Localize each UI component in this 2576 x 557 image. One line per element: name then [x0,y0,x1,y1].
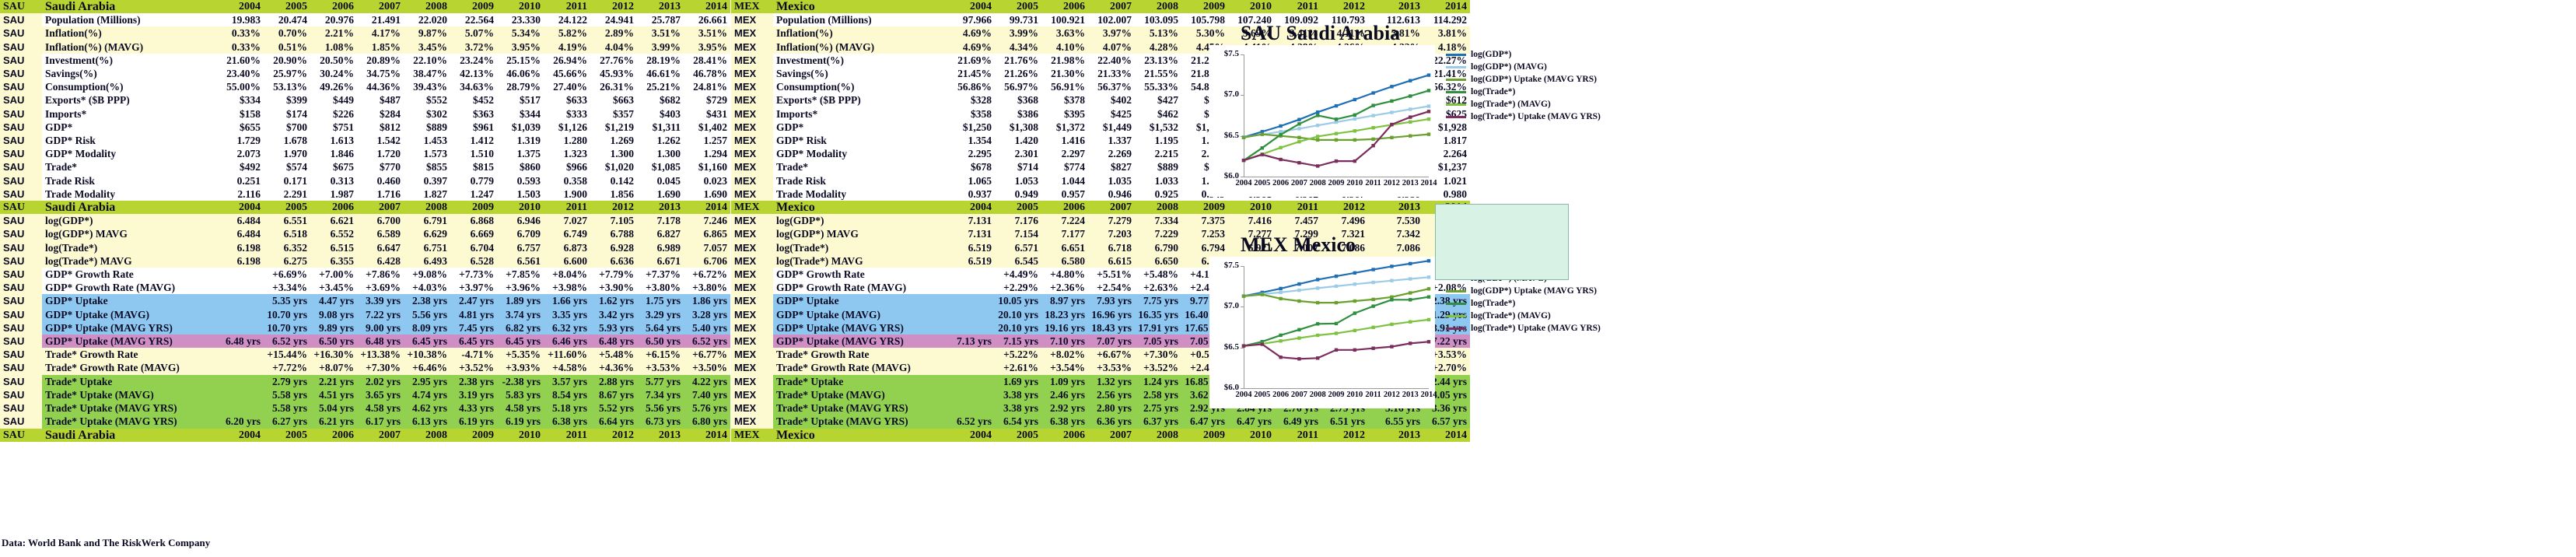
series-marker [1353,114,1356,117]
data-cell: +5.35% [497,348,544,361]
data-cell: 7.177 [1041,227,1088,240]
chart-sau: SAU Saudi Arabia$6.0$6.5$7.0$7.520042005… [1209,22,1435,197]
data-cell: 6.38 yrs [544,415,590,428]
series-marker [1316,322,1319,325]
data-cell: +3.45% [310,281,357,294]
row-label: log(Trade*) [773,241,948,254]
legend-swatch-icon [1446,303,1466,305]
data-cell: 6.48 yrs [590,335,637,348]
data-cell: 1.257 [684,134,730,147]
data-cell: +11.60% [544,348,590,361]
country-code: MEX [731,401,773,415]
series-marker [1316,135,1319,138]
data-cell: +8.04% [544,268,590,281]
series-marker [1371,326,1374,329]
data-cell: 6.700 [357,214,404,227]
row-label: Trade Modality [773,187,948,201]
data-cell: +3.93% [497,361,544,374]
data-cell: $889 [1135,160,1181,173]
data-cell: 18.43 yrs [1088,321,1135,335]
table-row: SAUTrade* Uptake (MAVG YRS)5.58 yrs5.04 … [0,401,730,415]
data-cell: 3.51% [637,26,684,40]
table-row: SAUlog(GDP*)6.4846.5516.6216.7006.7916.8… [0,214,730,227]
data-cell: 5.35 yrs [264,294,310,307]
legend-item: log(GDP*) Uptake (MAVG YRS) [1446,285,1601,297]
data-cell: 0.142 [590,174,637,187]
data-cell: +4.58% [544,361,590,374]
data-cell: 6.80 yrs [684,415,730,428]
row-label: GDP* [42,121,217,134]
data-cell: +3.52% [450,361,497,374]
data-cell: 1.542 [357,134,404,147]
country-name: Saudi Arabia [42,0,217,13]
series-marker [1335,331,1338,335]
row-label: GDP* Uptake (MAVG YRS) [773,335,948,348]
data-cell [948,268,995,281]
year-header: 2007 [357,429,404,442]
row-label: Imports* [773,107,948,121]
row-label: Investment(%) [42,54,217,67]
data-cell: +13.38% [357,348,404,361]
data-cell: 25.97% [264,67,310,80]
data-cell: $284 [357,107,404,121]
data-cell: 2.92 yrs [1041,401,1088,415]
row-label: Investment(%) [773,54,948,67]
data-cell: $1,039 [497,121,544,134]
data-cell: 6.989 [637,241,684,254]
data-cell: 1.89 yrs [497,294,544,307]
data-cell: $302 [404,107,450,121]
data-cell: $774 [1041,160,1088,173]
data-cell: $1,402 [684,121,730,134]
data-cell: 6.52 yrs [684,335,730,348]
row-label: log(GDP*) [42,214,217,227]
series-marker [1371,347,1374,350]
row-label: Trade* Uptake [773,375,948,388]
series-marker [1353,271,1356,275]
data-cell: 1.69 yrs [995,375,1041,388]
series-marker [1316,278,1319,281]
table-row: SAUPopulation (Millions)19.98320.47420.9… [0,13,730,26]
country-code: MEX [731,281,773,294]
data-cell: 1.86 yrs [684,294,730,307]
country-code: SAU [0,294,42,307]
series-marker [1279,339,1282,342]
data-cell: 0.779 [450,174,497,187]
data-cell: $855 [404,160,450,173]
country-name: Mexico [773,429,948,442]
data-cell: 21.55% [1135,67,1181,80]
data-cell: $1,308 [995,121,1041,134]
series-marker [1371,126,1374,129]
country-code: MEX [731,241,773,254]
data-cell: $714 [995,160,1041,173]
data-cell: 5.13% [1135,26,1181,40]
row-label: Trade* Uptake (MAVG) [42,388,217,401]
series-marker [1297,300,1300,303]
series-marker [1371,298,1374,301]
data-cell [217,388,264,401]
data-cell [217,375,264,388]
data-cell: 55.00% [217,80,264,93]
series-marker [1390,298,1393,301]
year-header: 2014 [684,201,730,214]
data-cell [948,294,995,307]
country-code: MEX [731,429,773,442]
data-cell: 6.19 yrs [450,415,497,428]
data-cell: 6.45 yrs [404,335,450,348]
year-header: 2014 [684,429,730,442]
data-cell: 25.15% [497,54,544,67]
data-cell [217,321,264,335]
year-header: 2011 [544,0,590,13]
data-cell: 20.10 yrs [995,308,1041,321]
data-cell: 4.19% [544,40,590,54]
country-code: MEX [731,174,773,187]
data-cell: $1,219 [590,121,637,134]
table-row: SAUlog(Trade*) MAVG6.1986.2756.3556.4286… [0,254,730,268]
data-cell: -2.38 yrs [497,375,544,388]
data-cell: 1.065 [948,174,995,187]
data-cell: 1.678 [264,134,310,147]
series-marker [1297,118,1300,121]
data-cell: 3.97% [1088,26,1135,40]
row-label: Consumption(%) [42,80,217,93]
data-cell: 6.757 [497,241,544,254]
country-code: SAU [0,40,42,54]
country-code: SAU [0,134,42,147]
data-cell: 6.545 [995,254,1041,268]
data-cell: 0.51% [264,40,310,54]
country-code: MEX [731,80,773,93]
data-cell: 1.970 [264,147,310,160]
series-marker [1427,259,1430,262]
data-cell: 6.198 [217,254,264,268]
data-cell: 6.561 [497,254,544,268]
series-marker [1261,146,1264,149]
row-label: Inflation(%) (MAVG) [773,40,948,54]
year-header: 2005 [995,429,1041,442]
data-cell: 28.41% [684,54,730,67]
data-cell: +6.15% [637,348,684,361]
data-cell: 21.491 [357,13,404,26]
data-cell: 1.294 [684,147,730,160]
country-code: SAU [0,214,42,227]
row-label: Trade* Uptake (MAVG YRS) [42,415,217,428]
row-label: GDP* Growth Rate (MAVG) [773,281,948,294]
data-cell: 21.33% [1088,67,1135,80]
series-marker [1427,104,1430,107]
year-header: 2007 [357,0,404,13]
data-cell: 22.020 [404,13,450,26]
data-cell: +3.53% [637,361,684,374]
legend-swatch-icon [1446,290,1466,293]
year-header: 2013 [637,201,684,214]
data-cell: 7.279 [1088,214,1135,227]
data-cell: 7.027 [544,214,590,227]
country-code: SAU [0,415,42,428]
data-cell: 3.65 yrs [357,388,404,401]
data-cell: +3.97% [450,281,497,294]
charts-panel: SAU Saudi Arabia$6.0$6.5$7.0$7.520042005… [1209,0,2011,537]
country-name: Saudi Arabia [42,429,217,442]
data-cell: 23.330 [497,13,544,26]
saudi-arabia-table: SAUSaudi Arabia2004200520062007200820092… [0,0,730,442]
year-header: 2004 [217,429,264,442]
series-marker [1353,282,1356,286]
legend-swatch-icon [1446,103,1466,106]
data-cell: 6.46 yrs [544,335,590,348]
data-cell: +8.02% [1041,348,1088,361]
data-cell: 5.52 yrs [590,401,637,415]
data-cell: 1.690 [684,187,730,201]
year-header: 2004 [948,201,995,214]
series-marker [1390,136,1393,139]
data-cell: 1.044 [1041,174,1088,187]
series-marker [1316,124,1319,127]
legend-label: log(GDP*) [1471,50,1511,59]
data-cell: 0.358 [544,174,590,187]
data-cell: $770 [357,160,404,173]
series-marker [1316,110,1319,114]
data-cell: 5.56 yrs [404,308,450,321]
row-label: log(GDP*) MAVG [42,227,217,240]
data-cell: $815 [450,160,497,173]
data-cell: 4.69% [948,26,995,40]
data-cell: 6.54 yrs [995,415,1041,428]
series-marker [1279,158,1282,161]
data-cell: 1.613 [310,134,357,147]
series-marker [1242,136,1245,139]
row-label: Trade Risk [773,174,948,187]
data-cell: 1.323 [544,147,590,160]
series-marker [1279,291,1282,294]
data-cell: 6.621 [310,214,357,227]
data-cell: 7.224 [1041,214,1088,227]
data-cell: 56.97% [995,80,1041,93]
series-marker [1390,264,1393,268]
year-header: 2005 [264,0,310,13]
data-cell: 2.79 yrs [264,375,310,388]
data-cell: +7.30% [357,361,404,374]
data-cell: $1,126 [544,121,590,134]
data-cell: 25.787 [637,13,684,26]
table-row: SAUGDP* Growth Rate (MAVG)+3.34%+3.45%+3… [0,281,730,294]
data-cell: 0.313 [310,174,357,187]
year-header: 2014 [684,0,730,13]
data-cell: 6.749 [544,227,590,240]
year-header: 2007 [1088,429,1135,442]
data-cell: 6.352 [264,241,310,254]
data-cell: 1.503 [497,187,544,201]
series-marker [1335,349,1338,352]
data-cell: 46.06% [497,67,544,80]
row-label: GDP* Uptake (MAVG YRS) [42,335,217,348]
data-cell: $751 [310,121,357,134]
data-cell: 20.89% [357,54,404,67]
data-cell: 1.354 [948,134,995,147]
table-row: SAUGDP* Modality2.0731.9701.8461.7201.57… [0,147,730,160]
table-row: SAUInflation(%) (MAVG)0.33%0.51%1.08%1.8… [0,40,730,54]
legend-item: log(Trade*) [1446,297,1601,310]
data-cell: 6.17 yrs [357,415,404,428]
data-cell: $462 [1135,107,1181,121]
country-code: MEX [731,227,773,240]
legend-label: log(Trade*) [1471,87,1515,96]
series-marker [1335,117,1338,121]
data-cell: +3.80% [637,281,684,294]
country-code: SAU [0,241,42,254]
data-cell: +3.80% [684,281,730,294]
series-marker [1390,323,1393,326]
data-cell: 19.16 yrs [1041,321,1088,335]
data-cell: 4.74 yrs [404,388,450,401]
country-code: MEX [731,93,773,107]
data-cell: 2.47 yrs [450,294,497,307]
chart-title: SAU Saudi Arabia [1241,22,1435,45]
data-cell: 5.56 yrs [637,401,684,415]
data-cell: 1.827 [404,187,450,201]
legend-swatch-icon [1446,91,1466,93]
data-cell: 26.94% [544,54,590,67]
data-cell: 4.22 yrs [684,375,730,388]
year-header: 2008 [404,429,450,442]
data-cell: 6.868 [450,214,497,227]
data-cell: 5.76 yrs [684,401,730,415]
year-header: 2012 [590,0,637,13]
data-cell: 2.75 yrs [1135,401,1181,415]
year-header: 2004 [948,0,995,13]
data-cell: 1.269 [590,134,637,147]
data-cell: 7.75 yrs [1135,294,1181,307]
country-code: MEX [731,268,773,281]
data-cell: 2.073 [217,147,264,160]
data-cell: +4.03% [404,281,450,294]
data-cell: 2.56 yrs [1088,388,1135,401]
data-cell: 0.593 [497,174,544,187]
data-cell: 10.05 yrs [995,294,1041,307]
country-code: SAU [0,308,42,321]
data-cell: 1.195 [1135,134,1181,147]
data-cell: 7.176 [995,214,1041,227]
data-cell: $966 [544,160,590,173]
legend-swatch-icon [1446,54,1466,56]
year-header: 2008 [1135,201,1181,214]
data-cell: 6.19 yrs [497,415,544,428]
country-code: SAU [0,201,42,214]
data-cell: $427 [1135,93,1181,107]
data-cell: 1.510 [450,147,497,160]
table-row: SAUTrade* Growth Rate (MAVG)+7.72%+8.07%… [0,361,730,374]
series-marker [1353,159,1356,163]
data-cell: 27.76% [590,54,637,67]
country-code: MEX [731,67,773,80]
data-cell: 6.20 yrs [217,415,264,428]
data-cell: +6.77% [684,348,730,361]
data-cell: +5.48% [1135,268,1181,281]
data-cell: 6.515 [310,241,357,254]
row-label: Population (Millions) [773,13,948,26]
series-marker [1427,318,1430,321]
country-name: Mexico [773,0,948,13]
row-label: Trade* Growth Rate [42,348,217,361]
country-code: SAU [0,361,42,374]
data-cell: 6.32 yrs [544,321,590,335]
series-marker [1371,268,1374,271]
year-header: 2010 [497,429,544,442]
series-marker [1316,164,1319,167]
data-cell: 7.178 [637,214,684,227]
series-marker [1353,117,1356,121]
data-cell: $1,085 [637,160,684,173]
data-cell: 6.484 [217,227,264,240]
data-cell: 1.453 [404,134,450,147]
data-cell: $403 [637,107,684,121]
data-cell: $675 [310,160,357,173]
data-cell: 7.05 yrs [1135,335,1181,348]
year-header: 2006 [1041,429,1088,442]
data-cell: 103.095 [1135,13,1181,26]
data-cell: 6.48 yrs [217,335,264,348]
country-code: MEX [731,107,773,121]
table-row: SAUTrade Risk0.2510.1710.3130.4600.3970.… [0,174,730,187]
country-code: SAU [0,227,42,240]
data-cell: 21.69% [948,54,995,67]
data-cell: 1.716 [357,187,404,201]
series-marker [1316,334,1319,337]
data-cell: 22.40% [1088,54,1135,67]
data-cell: 21.45% [948,67,995,80]
plot-area: $6.0$6.5$7.0$7.5200420052006200720082009… [1209,257,1435,408]
data-cell: 6.615 [1088,254,1135,268]
data-cell: 5.18 yrs [544,401,590,415]
data-cell: +2.36% [1041,281,1088,294]
data-cell: 6.13 yrs [404,415,450,428]
data-cell: 5.77 yrs [637,375,684,388]
series-marker [1335,138,1338,142]
table-header-row: SAUSaudi Arabia2004200520062007200820092… [0,0,730,13]
data-cell: 2.46 yrs [1041,388,1088,401]
data-cell: 2.295 [948,147,995,160]
table-row: SAUlog(GDP*) MAVG6.4846.5186.5526.5896.6… [0,227,730,240]
series-marker [1409,94,1412,97]
country-name: Mexico [773,201,948,214]
data-cell: $378 [1041,93,1088,107]
data-cell [948,281,995,294]
data-cell: +6.72% [684,268,730,281]
country-code: MEX [731,335,773,348]
table-row: SAUInvestment(%)21.60%20.90%20.50%20.89%… [0,54,730,67]
row-label: GDP* Modality [773,147,948,160]
data-cell: 6.788 [590,227,637,240]
data-cell: $1,311 [637,121,684,134]
country-code: SAU [0,281,42,294]
series-marker [1427,73,1430,76]
data-cell: 6.52 yrs [264,335,310,348]
data-cell: 45.66% [544,67,590,80]
country-code: MEX [731,134,773,147]
series-marker [1353,349,1356,352]
data-cell: 6.709 [497,227,544,240]
country-code: MEX [731,308,773,321]
row-label: Trade* Uptake (MAVG) [773,388,948,401]
data-cell: $402 [1088,93,1135,107]
year-header: 2009 [450,0,497,13]
data-cell: 1.053 [995,174,1041,187]
data-cell: 2.95 yrs [404,375,450,388]
data-cell: 2.21 yrs [310,375,357,388]
data-cell: $334 [217,93,264,107]
